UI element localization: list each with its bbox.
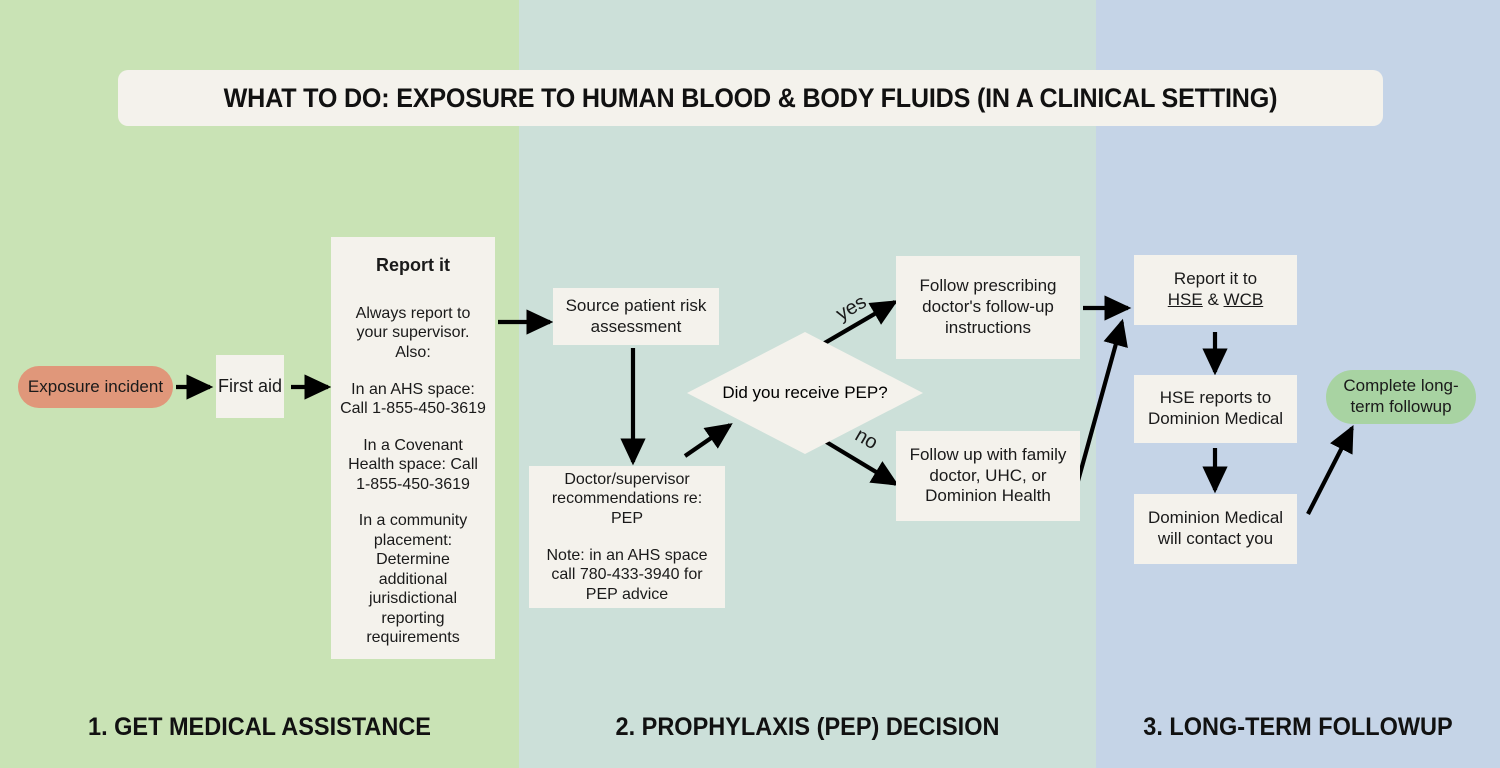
- node-doctor-recommendations-para-1: Doctor/supervisor recommendations re: PE…: [537, 470, 717, 529]
- page-title-text: WHAT TO DO: EXPOSURE TO HUMAN BLOOD & BO…: [224, 83, 1278, 114]
- node-report-it-para-4: In a community placement: Determine addi…: [340, 511, 486, 648]
- flowchart-canvas: WHAT TO DO: EXPOSURE TO HUMAN BLOOD & BO…: [0, 0, 1500, 768]
- link-wcb[interactable]: WCB: [1224, 290, 1264, 309]
- node-doctor-recommendations[interactable]: Doctor/supervisor recommendations re: PE…: [529, 466, 725, 608]
- node-pep-decision-label: Did you receive PEP?: [722, 383, 887, 403]
- link-hse[interactable]: HSE: [1168, 290, 1203, 309]
- node-hse-reports-dominion-label: HSE reports to Dominion Medical: [1140, 388, 1291, 429]
- node-first-aid[interactable]: First aid: [216, 355, 284, 418]
- section-1-label: 1. GET MEDICAL ASSISTANCE: [16, 713, 504, 742]
- node-report-it[interactable]: Report it Always report to your supervis…: [331, 237, 495, 659]
- page-title: WHAT TO DO: EXPOSURE TO HUMAN BLOOD & BO…: [118, 70, 1383, 126]
- node-exposure-incident[interactable]: Exposure incident: [18, 366, 173, 408]
- node-dominion-contact-label: Dominion Medical will contact you: [1140, 508, 1291, 549]
- node-report-hse-wcb-line-1: Report it to: [1174, 269, 1257, 290]
- section-2-label: 2. PROPHYLAXIS (PEP) DECISION: [536, 713, 1078, 742]
- node-hse-reports-dominion[interactable]: HSE reports to Dominion Medical: [1134, 375, 1297, 443]
- node-report-it-para-3: In a Covenant Health space: Call 1-855-4…: [340, 436, 486, 495]
- node-dominion-contact[interactable]: Dominion Medical will contact you: [1134, 494, 1297, 564]
- node-report-it-heading: Report it: [376, 255, 450, 277]
- node-first-aid-label: First aid: [218, 376, 282, 398]
- node-follow-prescribing-label: Follow prescribing doctor's follow-up in…: [904, 276, 1072, 338]
- node-source-patient-risk-label: Source patient risk assessment: [553, 296, 719, 337]
- node-complete-followup-label: Complete long-term followup: [1334, 376, 1468, 417]
- node-report-it-para-1: Always report to your supervisor. Also:: [340, 304, 486, 363]
- section-3-label: 3. LONG-TERM FOLLOWUP: [1108, 713, 1488, 742]
- node-follow-family-doctor[interactable]: Follow up with family doctor, UHC, or Do…: [896, 431, 1080, 521]
- node-report-it-para-2: In an AHS space: Call 1-855-450-3619: [340, 380, 486, 419]
- node-complete-followup[interactable]: Complete long-term followup: [1326, 370, 1476, 424]
- node-source-patient-risk[interactable]: Source patient risk assessment: [553, 288, 719, 345]
- node-doctor-recommendations-para-2: Note: in an AHS space call 780-433-3940 …: [537, 546, 717, 605]
- node-report-hse-wcb[interactable]: Report it to HSE & WCB: [1134, 255, 1297, 325]
- node-follow-family-doctor-label: Follow up with family doctor, UHC, or Do…: [904, 445, 1072, 507]
- report-hse-wcb-conjunction: &: [1203, 290, 1224, 309]
- node-follow-prescribing[interactable]: Follow prescribing doctor's follow-up in…: [896, 256, 1080, 359]
- node-exposure-incident-label: Exposure incident: [28, 377, 163, 398]
